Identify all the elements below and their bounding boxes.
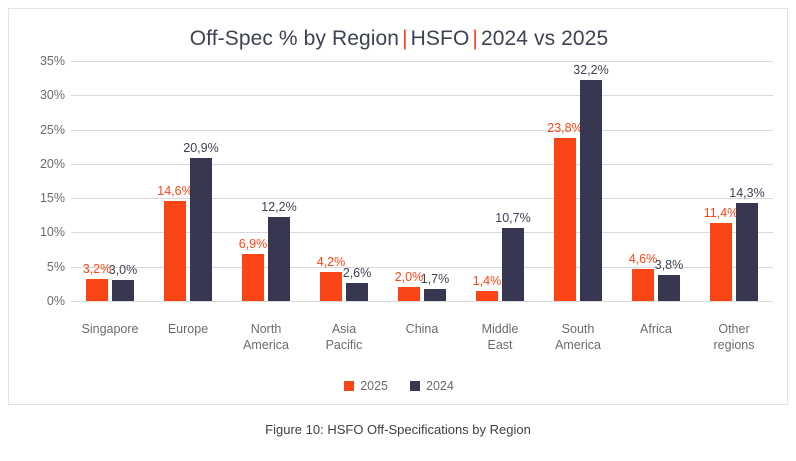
- x-axis-tick-line: America: [555, 337, 601, 353]
- bar-group: 14,6%20,9%: [149, 61, 227, 301]
- y-axis-tick-label: 5%: [47, 260, 65, 274]
- bars-layer: 3,2%3,0%14,6%20,9%6,9%12,2%4,2%2,6%2,0%1…: [71, 61, 773, 301]
- figure-caption: Figure 10: HSFO Off-Specifications by Re…: [0, 422, 796, 437]
- x-axis-tick-label: AsiaPacific: [326, 321, 363, 353]
- bar-group: 2,0%1,7%: [383, 61, 461, 301]
- x-axis-tick-line: Africa: [640, 321, 672, 337]
- bar-value-label: 3,2%: [83, 262, 112, 276]
- bar-group: 4,6%3,8%: [617, 61, 695, 301]
- x-axis-tick-line: America: [243, 337, 289, 353]
- y-axis-tick-label: 25%: [40, 123, 65, 137]
- x-axis-tick-line: Middle: [482, 321, 519, 337]
- bar-2025-other-regions[interactable]: [710, 223, 732, 301]
- x-axis-tick-label: MiddleEast: [482, 321, 519, 353]
- bar-2025-south-america[interactable]: [554, 138, 576, 301]
- x-axis-tick-label: China: [406, 321, 439, 337]
- y-axis-tick-label: 15%: [40, 191, 65, 205]
- bar-group: 4,2%2,6%: [305, 61, 383, 301]
- x-axis-tick-label: Europe: [168, 321, 208, 337]
- gridline: [71, 301, 773, 302]
- chart-title-separator-2: |: [469, 27, 481, 50]
- bar-value-label: 23,8%: [547, 121, 582, 135]
- bar-2025-asia-pacific[interactable]: [320, 272, 342, 301]
- bar-value-label: 1,4%: [473, 274, 502, 288]
- x-axis-tick-line: North: [243, 321, 289, 337]
- x-axis-tick-line: Europe: [168, 321, 208, 337]
- bar-2024-asia-pacific[interactable]: [346, 283, 368, 301]
- bar-group: 11,4%14,3%: [695, 61, 773, 301]
- bar-2024-south-america[interactable]: [580, 80, 602, 301]
- x-axis: SingaporeEuropeNorthAmericaAsiaPacificCh…: [71, 321, 773, 367]
- bar-group: 6,9%12,2%: [227, 61, 305, 301]
- bar-value-label: 10,7%: [495, 211, 530, 225]
- plot-area: 0%5%10%15%20%25%30%35% 3,2%3,0%14,6%20,9…: [25, 61, 773, 319]
- bar-group: 23,8%32,2%: [539, 61, 617, 301]
- chart-legend: 20252024: [9, 379, 789, 393]
- chart-title-part-2: HSFO: [411, 27, 470, 50]
- bar-group: 1,4%10,7%: [461, 61, 539, 301]
- bar-value-label: 6,9%: [239, 237, 268, 251]
- bar-value-label: 3,8%: [655, 258, 684, 272]
- bar-value-label: 2,6%: [343, 266, 372, 280]
- bar-value-label: 4,2%: [317, 255, 346, 269]
- legend-item-2024[interactable]: 2024: [410, 379, 454, 393]
- bar-value-label: 4,6%: [629, 252, 658, 266]
- bar-2024-singapore[interactable]: [112, 280, 134, 301]
- chart-card: Off-Spec % by Region|HSFO|2024 vs 2025 0…: [8, 8, 788, 405]
- bar-value-label: 14,3%: [729, 186, 764, 200]
- bar-value-label: 2,0%: [395, 270, 424, 284]
- bar-group: 3,2%3,0%: [71, 61, 149, 301]
- x-axis-tick-label: Otherregions: [714, 321, 755, 353]
- bar-2024-europe[interactable]: [190, 158, 212, 301]
- chart-title-part-3: 2024 vs 2025: [481, 27, 608, 50]
- y-axis: 0%5%10%15%20%25%30%35%: [25, 61, 71, 319]
- y-axis-tick-label: 30%: [40, 88, 65, 102]
- bar-2025-africa[interactable]: [632, 269, 654, 301]
- chart-title-separator-1: |: [399, 27, 411, 50]
- x-axis-tick-line: East: [482, 337, 519, 353]
- chart-title: Off-Spec % by Region|HSFO|2024 vs 2025: [9, 27, 789, 51]
- legend-label: 2024: [426, 379, 454, 393]
- y-axis-tick-label: 0%: [47, 294, 65, 308]
- legend-swatch-icon: [344, 381, 354, 391]
- bar-2024-other-regions[interactable]: [736, 203, 758, 301]
- bar-2024-africa[interactable]: [658, 275, 680, 301]
- x-axis-tick-line: Other: [714, 321, 755, 337]
- legend-item-2025[interactable]: 2025: [344, 379, 388, 393]
- bar-2025-north-america[interactable]: [242, 254, 264, 301]
- bar-2024-middle-east[interactable]: [502, 228, 524, 301]
- bar-2024-north-america[interactable]: [268, 217, 290, 301]
- x-axis-tick-line: Pacific: [326, 337, 363, 353]
- x-axis-tick-line: Asia: [326, 321, 363, 337]
- plot-canvas: 3,2%3,0%14,6%20,9%6,9%12,2%4,2%2,6%2,0%1…: [71, 61, 773, 301]
- bar-2025-china[interactable]: [398, 287, 420, 301]
- bar-value-label: 32,2%: [573, 63, 608, 77]
- legend-label: 2025: [360, 379, 388, 393]
- bar-2025-europe[interactable]: [164, 201, 186, 301]
- bar-2025-singapore[interactable]: [86, 279, 108, 301]
- x-axis-tick-line: regions: [714, 337, 755, 353]
- chart-title-part-1: Off-Spec % by Region: [190, 27, 399, 50]
- x-axis-tick-label: Africa: [640, 321, 672, 337]
- bar-value-label: 12,2%: [261, 200, 296, 214]
- bar-2025-middle-east[interactable]: [476, 291, 498, 301]
- legend-swatch-icon: [410, 381, 420, 391]
- bar-value-label: 11,4%: [704, 206, 739, 220]
- y-axis-tick-label: 10%: [40, 225, 65, 239]
- x-axis-tick-label: SouthAmerica: [555, 321, 601, 353]
- bar-value-label: 1,7%: [421, 272, 450, 286]
- bar-value-label: 20,9%: [183, 141, 218, 155]
- x-axis-tick-label: Singapore: [82, 321, 139, 337]
- x-axis-tick-label: NorthAmerica: [243, 321, 289, 353]
- bar-value-label: 3,0%: [109, 263, 138, 277]
- x-axis-tick-line: South: [555, 321, 601, 337]
- x-axis-tick-line: China: [406, 321, 439, 337]
- bar-2024-china[interactable]: [424, 289, 446, 301]
- y-axis-tick-label: 35%: [40, 54, 65, 68]
- y-axis-tick-label: 20%: [40, 157, 65, 171]
- x-axis-tick-line: Singapore: [82, 321, 139, 337]
- bar-value-label: 14,6%: [157, 184, 192, 198]
- figure-container: Off-Spec % by Region|HSFO|2024 vs 2025 0…: [0, 0, 796, 461]
